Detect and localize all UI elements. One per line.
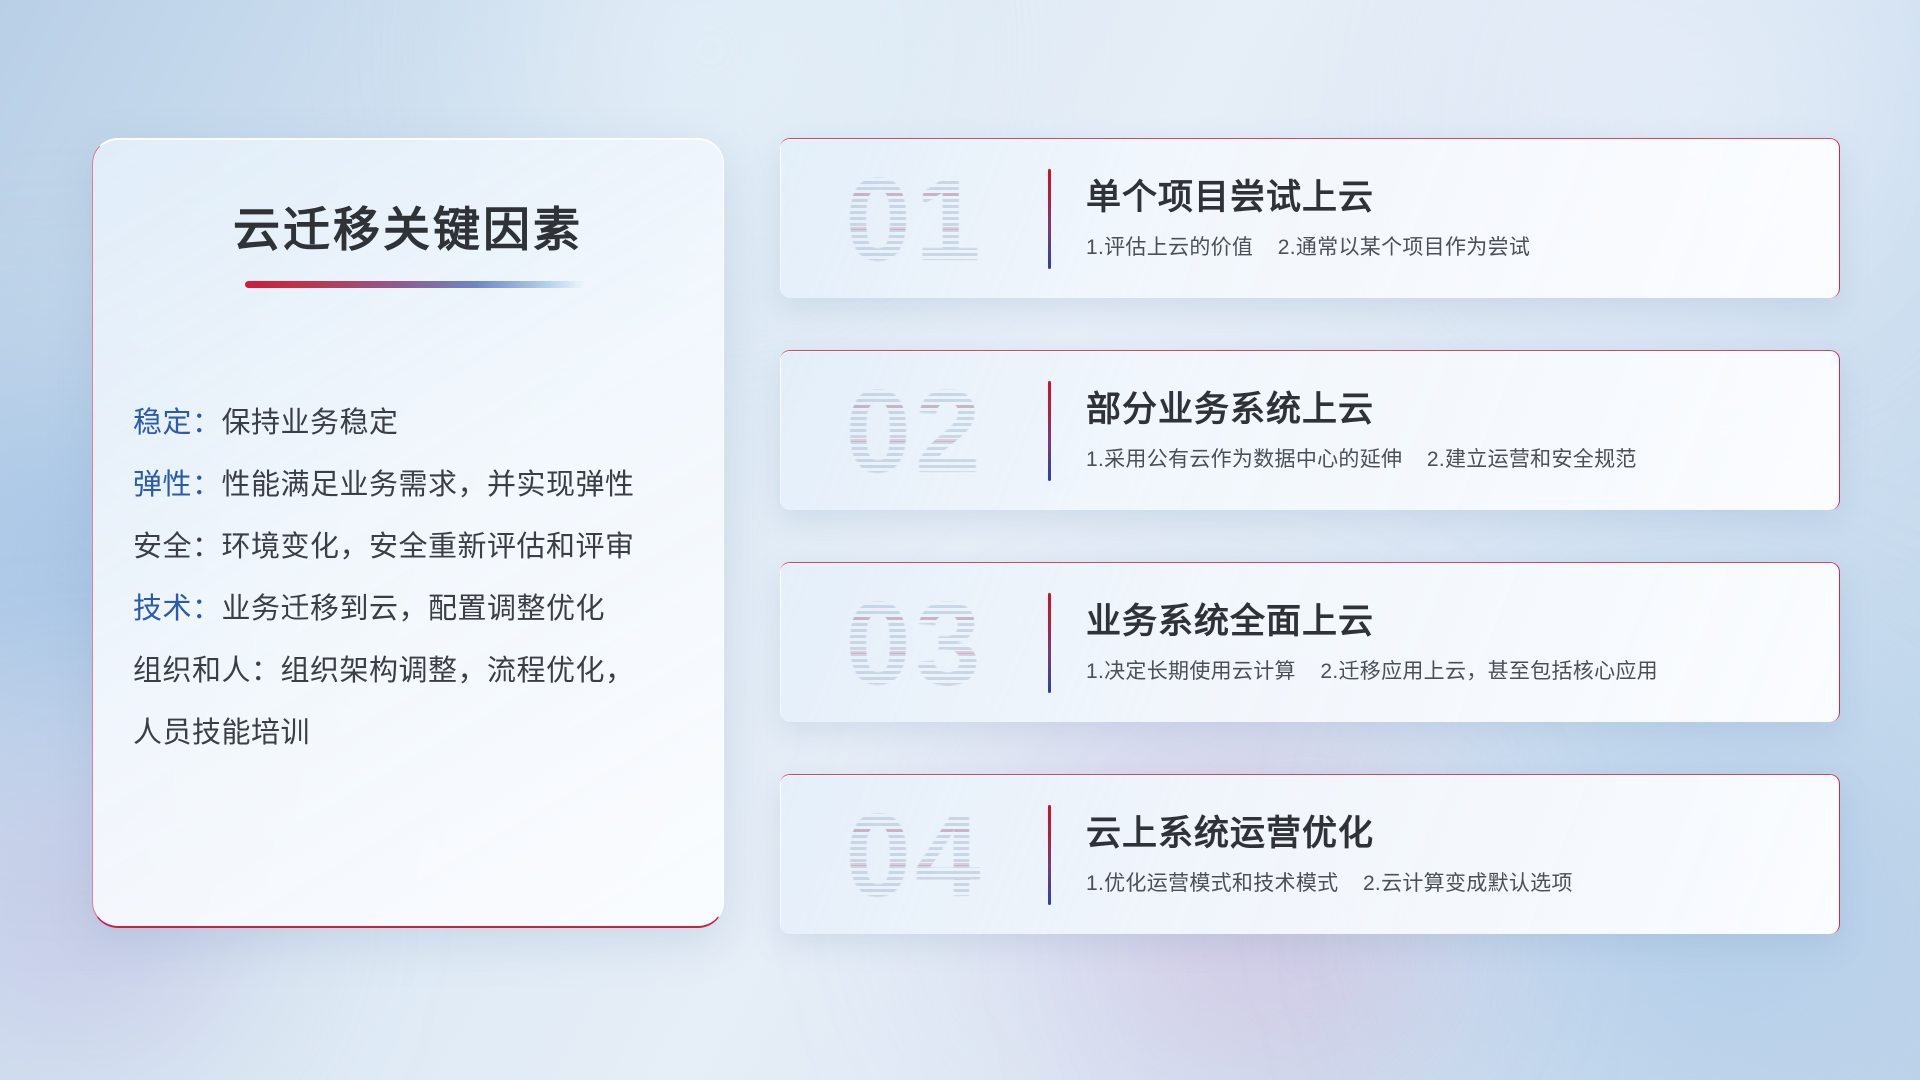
step-title: 单个项目尝试上云: [1086, 169, 1374, 220]
factor-key: 安全：: [133, 523, 222, 565]
factor-key: 稳定：: [133, 399, 222, 441]
step-subtitle: 1.决定长期使用云计算 2.迁移应用上云，甚至包括核心应用: [1086, 655, 1658, 685]
step-number-04-tint: 04: [810, 781, 1020, 931]
factor-value: 人员技能培训: [133, 709, 310, 751]
step-card-04[interactable]: 04 04 云上系统运营优化 1.优化运营模式和技术模式 2.云计算变成默认选项: [780, 774, 1840, 934]
factor-value: 性能满足业务需求，并实现弹性: [222, 461, 635, 503]
step-title: 云上系统运营优化: [1086, 805, 1374, 856]
list-item: 稳定： 保持业务稳定: [133, 389, 693, 451]
factor-value: 组织架构调整，流程优化，: [281, 647, 635, 689]
list-item: 弹性： 性能满足业务需求，并实现弹性: [133, 451, 693, 513]
factor-value: 环境变化，安全重新评估和评审: [222, 523, 635, 565]
list-item: 技术： 业务迁移到云，配置调整优化: [133, 575, 693, 637]
step-divider-accent: [1048, 593, 1051, 693]
list-item: 安全： 环境变化，安全重新评估和评审: [133, 513, 693, 575]
factor-value: 业务迁移到云，配置调整优化: [222, 585, 606, 627]
step-number-02-tint: 02: [810, 357, 1020, 507]
slide-stage: 云迁移关键因素 稳定： 保持业务稳定 弹性： 性能满足业务需求，并实现弹性 安全…: [0, 0, 1920, 1080]
title-underline-accent: [245, 281, 585, 288]
step-card-03[interactable]: 03 03 业务系统全面上云 1.决定长期使用云计算 2.迁移应用上云，甚至包括…: [780, 562, 1840, 722]
list-item: 组织和人： 组织架构调整，流程优化，: [133, 637, 693, 699]
step-subtitle: 1.评估上云的价值 2.通常以某个项目作为尝试: [1086, 231, 1530, 261]
step-divider-accent: [1048, 805, 1051, 905]
step-divider-accent: [1048, 381, 1051, 481]
step-number-03-tint: 03: [810, 569, 1020, 719]
factor-key: 弹性：: [133, 461, 222, 503]
page-title: 云迁移关键因素: [93, 191, 723, 260]
step-number-01-tint: 01: [810, 145, 1020, 295]
step-divider-accent: [1048, 169, 1051, 269]
step-card-01[interactable]: 01 01 单个项目尝试上云 1.评估上云的价值 2.通常以某个项目作为尝试: [780, 138, 1840, 298]
step-card-02[interactable]: 02 02 部分业务系统上云 1.采用公有云作为数据中心的延伸 2.建立运营和安…: [780, 350, 1840, 510]
step-subtitle: 1.优化运营模式和技术模式 2.云计算变成默认选项: [1086, 867, 1573, 897]
factor-value: 保持业务稳定: [222, 399, 399, 441]
list-item: 人员技能培训: [133, 699, 693, 761]
factor-key: 技术：: [133, 585, 222, 627]
step-subtitle: 1.采用公有云作为数据中心的延伸 2.建立运营和安全规范: [1086, 443, 1637, 473]
key-factors-panel: 云迁移关键因素 稳定： 保持业务稳定 弹性： 性能满足业务需求，并实现弹性 安全…: [92, 138, 724, 928]
factor-key: 组织和人：: [133, 647, 281, 689]
key-factors-list: 稳定： 保持业务稳定 弹性： 性能满足业务需求，并实现弹性 安全： 环境变化，安…: [133, 389, 693, 761]
step-title: 业务系统全面上云: [1086, 593, 1374, 644]
step-title: 部分业务系统上云: [1086, 381, 1374, 432]
